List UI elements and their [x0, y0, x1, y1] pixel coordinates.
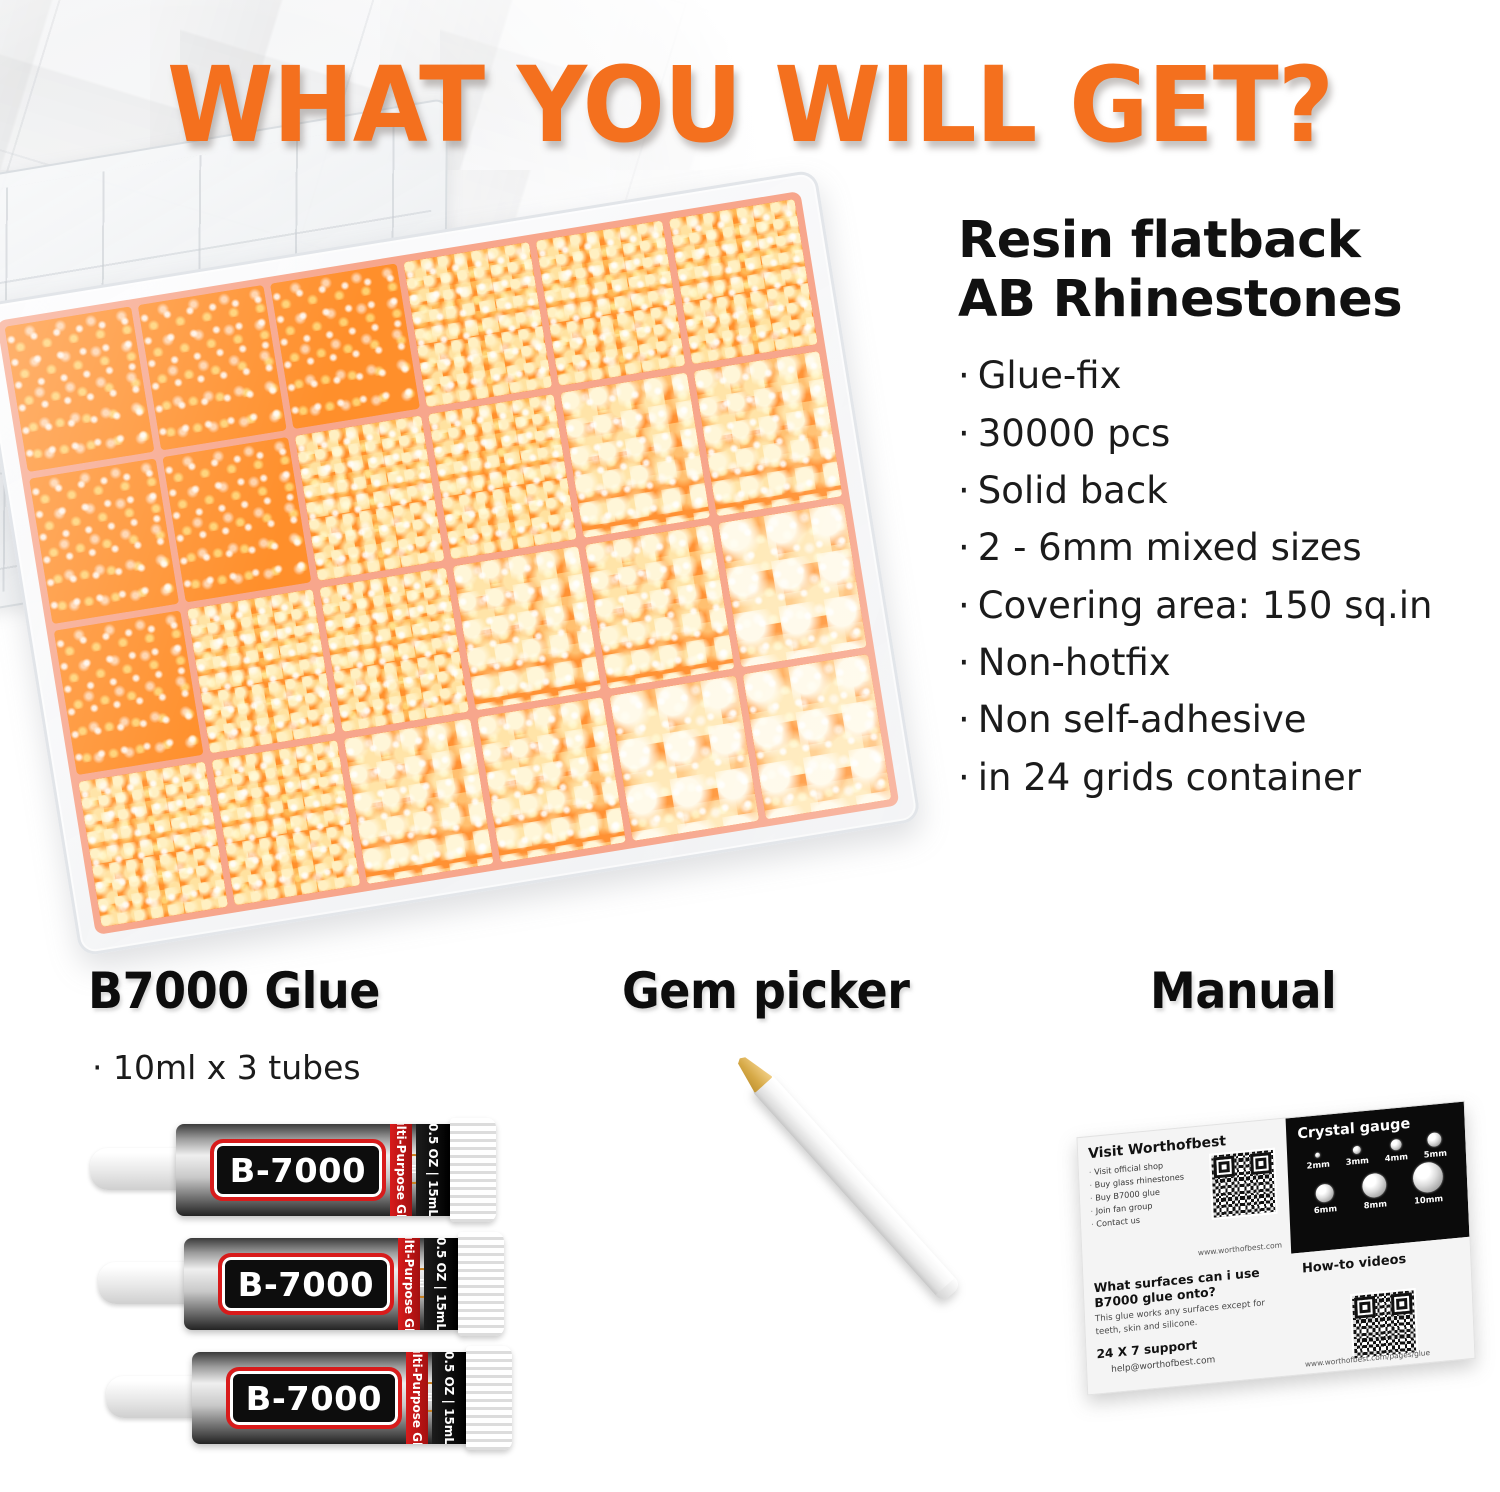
tube-crimp: [458, 1232, 504, 1336]
list-item: ·30000 pcs: [958, 405, 1498, 462]
tray-grid-24: [0, 191, 899, 935]
grid-cell: [477, 697, 626, 862]
gauge-label: 8mm: [1364, 1198, 1388, 1210]
section-heading-glue: B7000 Glue: [88, 962, 380, 1020]
tube-purpose-text: Multi-Purpose Glue: [410, 1352, 424, 1444]
bullet-text: 30000 pcs: [978, 412, 1171, 455]
bullet-dot-icon: ·: [958, 756, 970, 799]
tube-volume-strip: 0.5 OZ | 15mL: [432, 1352, 466, 1444]
grid-cell: [452, 546, 601, 711]
tube-volume-text: 0.5 OZ | 15mL: [442, 1352, 456, 1444]
gem-size-icon: [1362, 1172, 1387, 1198]
tube-nozzle: [106, 1376, 202, 1418]
grid-cell: [668, 199, 817, 364]
list-item: ·Glue-fix: [958, 347, 1498, 404]
gem-size-icon: [1353, 1146, 1361, 1155]
gem-picker-photo: [640, 1085, 1020, 1485]
tube-brand-label: B-7000: [218, 1253, 394, 1315]
bullet-text: Non-hotfix: [978, 641, 1171, 684]
tube-crimp: [450, 1118, 496, 1222]
glue-tubes-photo: B-7000 CLEAR Multi-Purpose Glue 0.5 OZ |…: [70, 1110, 590, 1492]
tube-purpose-strip: Multi-Purpose Glue: [390, 1124, 412, 1216]
crystal-gauge-panel: Crystal gauge 2mm 3mm 4mm 5mm: [1286, 1102, 1470, 1254]
gem-size-icon: [1315, 1183, 1334, 1203]
grid-cell: [211, 740, 360, 905]
bullet-text: in 24 grids container: [978, 756, 1361, 799]
gauge-label: 4mm: [1384, 1151, 1408, 1163]
gauge-item: 8mm: [1362, 1172, 1387, 1210]
tube-brand-label: B-7000: [210, 1139, 386, 1201]
grid-cell: [693, 351, 842, 516]
list-item: ·Solid back: [958, 462, 1498, 519]
grid-cell: [295, 415, 444, 580]
qr-code-icon: [1209, 1148, 1277, 1220]
bullet-dot-icon: ·: [958, 526, 970, 569]
product-heading-line2: AB Rhinestones: [958, 270, 1402, 329]
grid-cell: [186, 589, 335, 754]
grid-cell: [609, 676, 758, 841]
grid-cell: [718, 503, 867, 668]
list-item: ·Non self-adhesive: [958, 691, 1498, 748]
tube-nozzle: [90, 1148, 186, 1190]
bullet-dot-icon: ·: [958, 584, 970, 627]
grid-cell: [5, 306, 154, 471]
glue-tube: B-7000 CLEAR Multi-Purpose Glue 0.5 OZ |…: [90, 1118, 510, 1222]
tube-volume-text: 0.5 OZ | 15mL: [434, 1238, 448, 1330]
rhinestone-container-photo: [0, 175, 910, 950]
grid-cell: [270, 263, 419, 428]
gauge-label: 3mm: [1345, 1155, 1369, 1167]
tube-purpose-text: Multi-Purpose Glue: [402, 1238, 416, 1330]
gauge-label: 2mm: [1306, 1159, 1330, 1171]
gem-size-icon: [1315, 1152, 1320, 1157]
grid-cell: [585, 524, 734, 689]
product-bullet-list: ·Glue-fix ·30000 pcs ·Solid back ·2 - 6m…: [958, 347, 1498, 806]
manual-visit-panel: Visit Worthofbest Visit official shop Bu…: [1077, 1119, 1291, 1274]
tube-purpose-strip: Multi-Purpose Glue: [406, 1352, 428, 1444]
gauge-item: 6mm: [1313, 1183, 1337, 1215]
bullet-text: 2 - 6mm mixed sizes: [978, 526, 1362, 569]
tube-brand-label: B-7000: [226, 1367, 402, 1429]
grid-cell: [137, 285, 286, 450]
grid-cell: [162, 437, 311, 602]
gauge-item: 2mm: [1306, 1152, 1330, 1171]
manual-videos-panel: How-to videos www.worthofbest.com/pages/…: [1291, 1237, 1474, 1375]
product-heading-line1: Resin flatback: [958, 211, 1360, 270]
manual-surfaces-panel: What surfaces can i use B7000 glue onto?…: [1083, 1254, 1296, 1395]
tube-brand-text: B-7000: [238, 1265, 374, 1304]
section-heading-picker: Gem picker: [622, 962, 910, 1020]
tube-volume-text: 0.5 OZ | 15mL: [426, 1124, 440, 1216]
glue-subtext: · 10ml x 3 tubes: [92, 1048, 361, 1087]
bullet-text: Solid back: [978, 469, 1168, 512]
manual-card-photo: Visit Worthofbest Visit official shop Bu…: [1065, 1105, 1485, 1405]
bullet-text: Glue-fix: [978, 354, 1122, 397]
gem-size-icon: [1412, 1161, 1443, 1194]
tube-volume-strip: 0.5 OZ | 15mL: [416, 1124, 450, 1216]
gauge-label: 6mm: [1314, 1203, 1338, 1215]
tube-brand-text: B-7000: [246, 1379, 382, 1418]
bullet-dot-icon: ·: [958, 698, 970, 741]
tube-brand-text: B-7000: [230, 1151, 366, 1190]
list-item: ·2 - 6mm mixed sizes: [958, 519, 1498, 576]
tube-crimp: [466, 1346, 512, 1450]
gauge-label: 5mm: [1424, 1147, 1448, 1159]
bullet-dot-icon: ·: [958, 469, 970, 512]
glue-tube: B-7000 CLEAR Multi-Purpose Glue 0.5 OZ |…: [106, 1346, 526, 1450]
tube-body: B-7000 CLEAR Multi-Purpose Glue 0.5 OZ |…: [192, 1352, 472, 1444]
gem-size-icon: [1390, 1139, 1401, 1151]
bullet-text: Covering area: 150 sq.in: [978, 584, 1433, 627]
page-title: WHAT YOU WILL GET?: [53, 44, 1448, 166]
gauge-item: 10mm: [1412, 1161, 1444, 1206]
videos-title: How-to videos: [1302, 1247, 1461, 1277]
gem-picker-pencil: [751, 1073, 961, 1302]
bullet-dot-icon: ·: [958, 412, 970, 455]
product-spec-column: Resin flatback AB Rhinestones ·Glue-fix …: [958, 212, 1498, 806]
grid-cell: [427, 394, 576, 559]
list-item: ·in 24 grids container: [958, 749, 1498, 806]
section-heading-manual: Manual: [1150, 962, 1336, 1020]
grid-cell: [403, 242, 552, 407]
tube-body: B-7000 CLEAR Multi-Purpose Glue 0.5 OZ |…: [184, 1238, 464, 1330]
grid-cell: [29, 458, 178, 623]
grid-cell: [54, 610, 203, 775]
grid-cell: [742, 654, 891, 819]
manual-card: Visit Worthofbest Visit official shop Bu…: [1076, 1101, 1475, 1396]
gauge-item: 3mm: [1345, 1145, 1369, 1167]
bullet-text: Non self-adhesive: [978, 698, 1307, 741]
gem-size-icon: [1427, 1132, 1442, 1147]
product-heading: Resin flatback AB Rhinestones: [958, 212, 1498, 329]
tube-purpose-text: Multi-Purpose Glue: [394, 1124, 408, 1216]
grid-cell: [344, 719, 493, 884]
grid-cell: [319, 567, 468, 732]
grid-cell: [536, 220, 685, 385]
bullet-dot-icon: ·: [958, 354, 970, 397]
gauge-item: 4mm: [1384, 1138, 1408, 1163]
gauge-item: 5mm: [1423, 1131, 1447, 1159]
grid-cell: [78, 762, 227, 927]
list-item: ·Non-hotfix: [958, 634, 1498, 691]
tube-nozzle: [98, 1262, 194, 1304]
tube-purpose-strip: Multi-Purpose Glue: [398, 1238, 420, 1330]
bullet-dot-icon: ·: [958, 641, 970, 684]
list-item: ·Covering area: 150 sq.in: [958, 577, 1498, 634]
tube-volume-strip: 0.5 OZ | 15mL: [424, 1238, 458, 1330]
glue-tube: B-7000 CLEAR Multi-Purpose Glue 0.5 OZ |…: [98, 1232, 518, 1336]
grid-cell: [560, 372, 709, 537]
gauge-label: 10mm: [1414, 1193, 1443, 1206]
container-tray: [0, 169, 921, 957]
tube-body: B-7000 CLEAR Multi-Purpose Glue 0.5 OZ |…: [176, 1124, 456, 1216]
